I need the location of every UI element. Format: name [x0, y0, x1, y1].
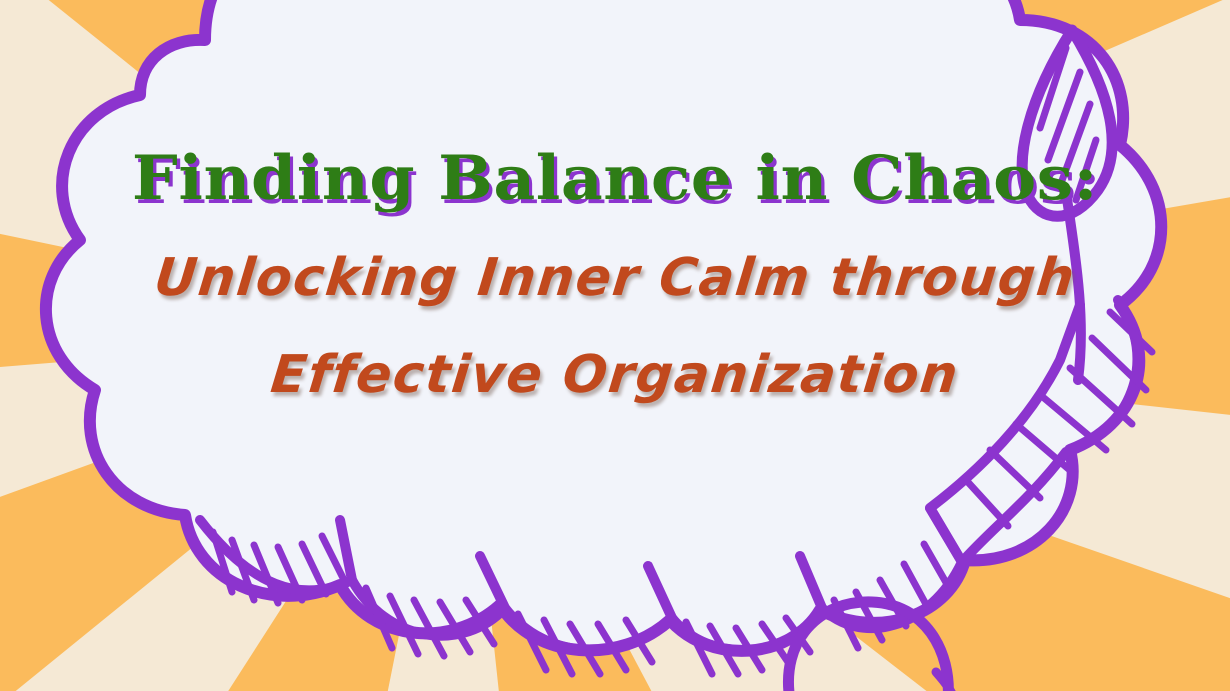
title-slide: Finding Balance in Chaos: Unlocking Inne… — [0, 0, 1230, 691]
page-subtitle-line-2: Effective Organization — [0, 345, 1230, 405]
page-subtitle-line-1: Unlocking Inner Calm through — [0, 248, 1230, 308]
page-title: Finding Balance in Chaos: — [0, 143, 1230, 214]
